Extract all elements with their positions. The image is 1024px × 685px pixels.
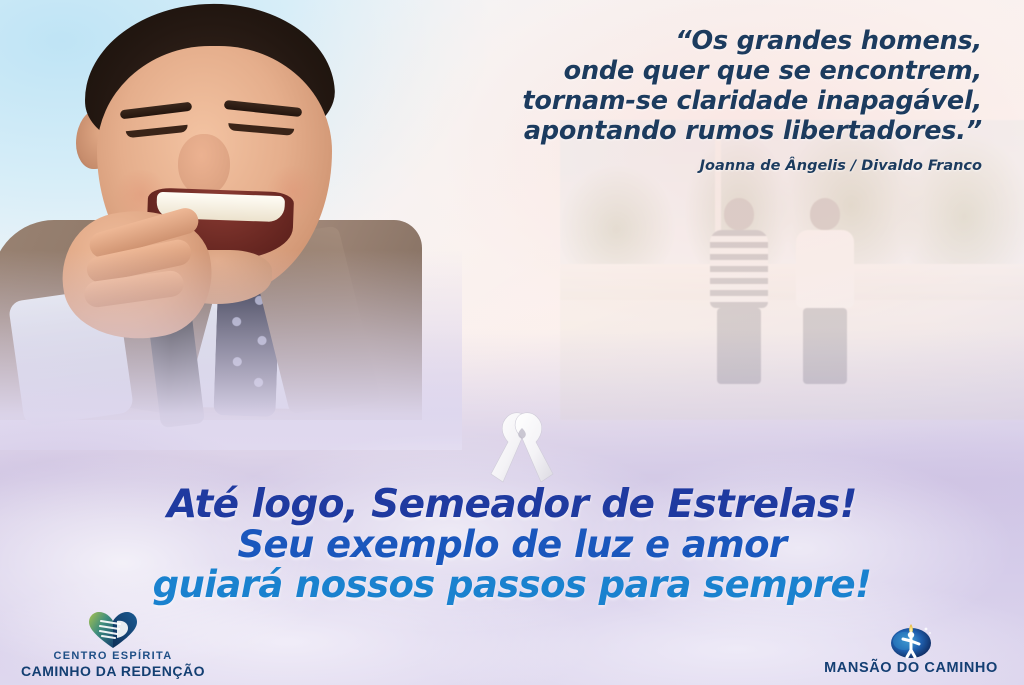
background-photo-person [710,198,768,384]
person-legs [803,308,847,384]
headline-line-2: Seu exemplo de luz e amor [0,525,1024,565]
person-head [810,198,840,230]
headline-line-3: guiará nossos passos para sempre! [0,565,1024,605]
portrait-nose [178,134,230,196]
headline-line-1: Até logo, Semeador de Estrelas! [0,484,1024,525]
quote-line-4: apontando rumos libertadores.” [422,116,982,146]
logo-left-line-1: CENTRO ESPÍRITA [8,650,218,663]
globe-figure-icon [806,620,1016,660]
logo-right-line-1: MANSÃO DO CAMINHO [806,660,1016,677]
quote-line-3: tornam-se claridade inapagável, [422,86,982,116]
quote-line-1: “Os grandes homens, [422,26,982,56]
memorial-poster: “Os grandes homens, onde quer que se enc… [0,0,1024,685]
hands-heart-icon [8,610,218,650]
logo-left-line-2: CAMINHO DA REDENÇÃO [8,663,218,679]
person-torso [710,230,768,308]
logo-centro-espirita[interactable]: CENTRO ESPÍRITA CAMINHO DA REDENÇÃO [8,610,218,679]
background-photo-person [796,198,854,384]
background-photo-wall [560,264,1024,300]
headline-block: Até logo, Semeador de Estrelas! Seu exem… [0,484,1024,605]
quotation-block: “Os grandes homens, onde quer que se enc… [422,26,982,174]
logo-mansao-do-caminho[interactable]: MANSÃO DO CAMINHO [806,620,1016,677]
white-ribbon-icon [487,408,557,486]
quote-line-2: onde quer que se encontrem, [422,56,982,86]
portrait-photo [0,0,422,414]
person-legs [717,308,761,384]
background-photo-ground [560,300,1024,420]
person-head [724,198,754,230]
quote-attribution: Joanna de Ângelis / Divaldo Franco [422,158,982,174]
person-torso [796,230,854,308]
